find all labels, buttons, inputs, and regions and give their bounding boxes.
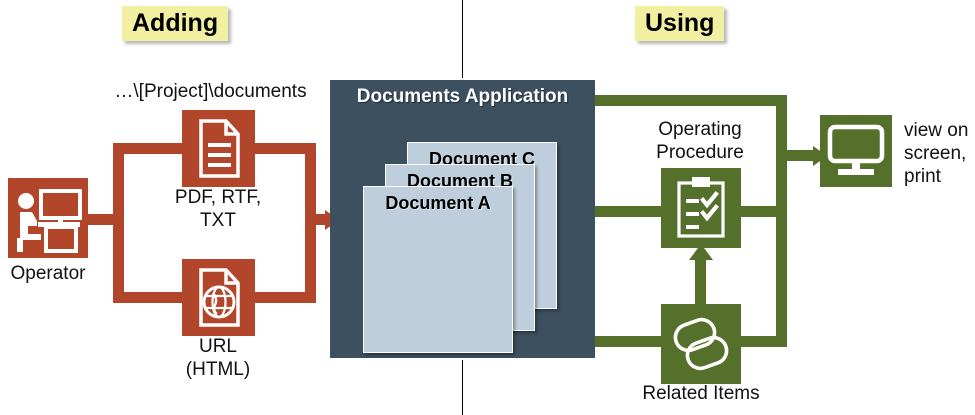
- connector-orange-trunk: [113, 143, 124, 303]
- connector-panel-to-top-rail: [595, 95, 787, 106]
- documents-path-label: …\[Project]\documents: [108, 80, 313, 103]
- connector-trunk-to-url: [113, 292, 186, 303]
- view-output-label: view on screen, print: [904, 119, 975, 188]
- operator-label: Operator: [0, 262, 96, 285]
- related-items-icon-tile[interactable]: [661, 304, 741, 384]
- operator-icon-tile[interactable]: [8, 178, 88, 258]
- documents-application-panel[interactable]: Documents Application Document C Documen…: [330, 80, 595, 358]
- file-formats-label-line2: TXT: [148, 209, 288, 232]
- connector-panel-to-procedure: [595, 206, 664, 217]
- web-page-globe-icon: [182, 259, 255, 336]
- section-banner-using-label: Using: [645, 9, 714, 37]
- operating-procedure-icon-tile[interactable]: [661, 168, 741, 248]
- file-formats-label-line1: PDF, RTF,: [148, 186, 288, 209]
- view-output-label-line3: print: [904, 165, 975, 188]
- url-label-line2: (HTML): [148, 358, 288, 381]
- connector-trunk-to-pdf: [113, 143, 186, 154]
- connector-procedure-to-trunk: [740, 206, 787, 217]
- view-output-label-line1: view on: [904, 119, 975, 142]
- operating-procedure-label-line2: Procedure: [630, 141, 770, 164]
- file-formats-icon-tile[interactable]: [182, 110, 255, 187]
- linked-chain-icon: [661, 304, 741, 384]
- clipboard-checklist-icon: [661, 168, 741, 248]
- operator-at-desk-icon: [8, 178, 88, 258]
- section-banner-adding-label: Adding: [132, 9, 218, 37]
- operating-procedure-label-line1: Operating: [630, 118, 770, 141]
- url-label-line1: URL: [148, 335, 288, 358]
- file-formats-label: PDF, RTF, TXT: [148, 186, 288, 232]
- document-card-a[interactable]: Document A: [363, 186, 513, 353]
- document-file-icon: [182, 110, 255, 187]
- divider-line-top: [462, 0, 463, 78]
- monitor-screen-icon: [820, 115, 892, 187]
- divider-line-bottom: [462, 360, 463, 415]
- documents-application-title: Documents Application: [330, 86, 595, 108]
- view-output-icon-tile[interactable]: [820, 115, 892, 187]
- url-icon-tile[interactable]: [182, 259, 255, 336]
- operating-procedure-label: Operating Procedure: [630, 118, 770, 164]
- related-items-label: Related Items: [626, 382, 776, 405]
- connector-bottom-rail-to-related: [595, 336, 664, 347]
- view-output-label-line2: screen,: [904, 142, 975, 165]
- document-card-a-label: Document A: [364, 193, 512, 214]
- section-banner-adding: Adding: [122, 6, 228, 41]
- url-label: URL (HTML): [148, 335, 288, 381]
- diagram-canvas: Adding Using: [0, 0, 975, 415]
- section-banner-using: Using: [635, 6, 724, 41]
- connector-related-to-procedure-shaft: [695, 258, 706, 304]
- connector-green-right-trunk: [776, 95, 787, 347]
- connector-related-to-trunk: [740, 336, 787, 347]
